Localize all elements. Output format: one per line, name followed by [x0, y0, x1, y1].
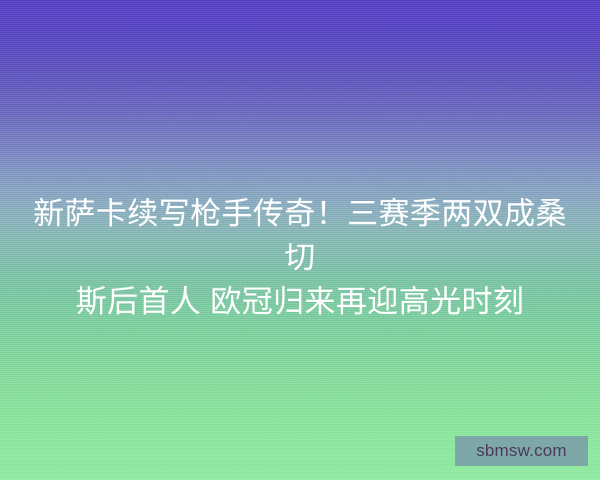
headline-text: 新萨卡续写枪手传奇！三赛季两双成桑切 斯后首人 欧冠归来再迎高光时刻: [0, 192, 600, 324]
watermark-badge: sbmsw.com: [455, 436, 588, 466]
poster-canvas: 新萨卡续写枪手传奇！三赛季两双成桑切 斯后首人 欧冠归来再迎高光时刻 sbmsw…: [0, 0, 600, 480]
watermark-label: sbmsw.com: [476, 441, 567, 460]
